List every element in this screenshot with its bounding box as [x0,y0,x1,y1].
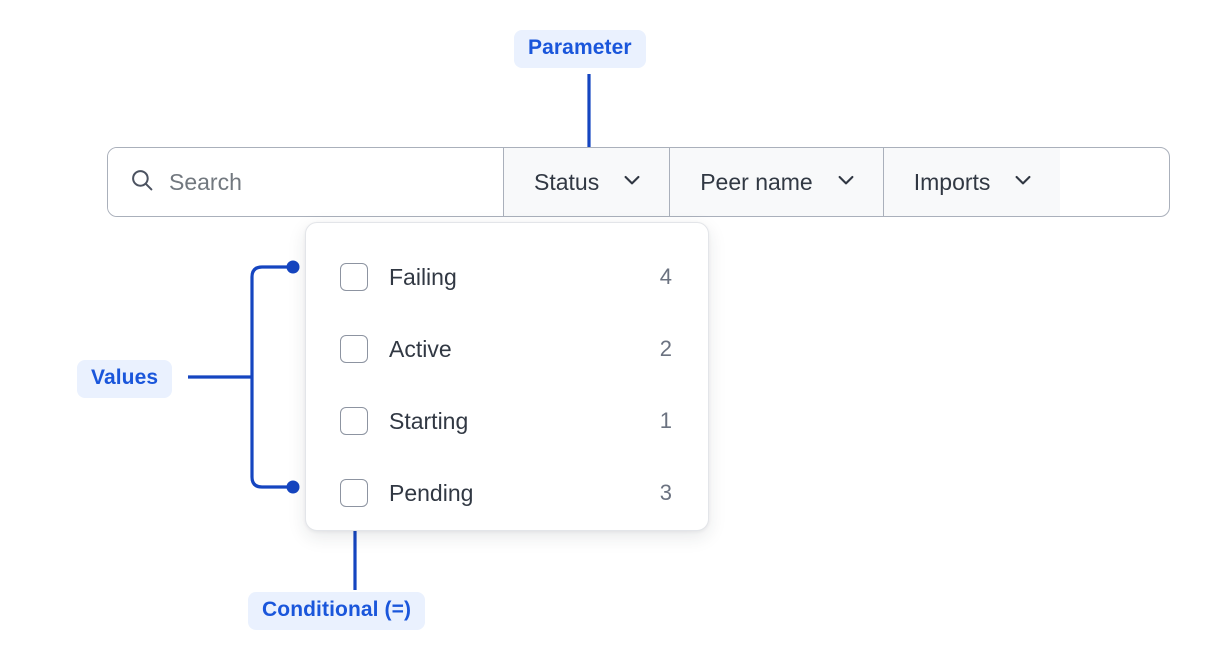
annotation-badge-values: Values [77,360,172,398]
values-connector-dot-bottom [287,481,300,494]
chevron-down-icon[interactable] [835,169,857,196]
option-label: Failing [389,264,660,291]
annotation-badge-conditional: Conditional (=) [248,592,425,630]
search-input[interactable] [169,169,469,196]
checkbox-icon[interactable] [340,335,368,363]
annotated-filter-diagram: Parameter Values Conditional (=) Status … [0,0,1224,660]
list-item[interactable]: Pending 3 [306,457,708,529]
option-count: 3 [660,480,672,506]
annotation-badge-parameter: Parameter [514,30,646,68]
filter-segment-label: Peer name [700,169,813,196]
checkbox-icon[interactable] [340,263,368,291]
checkbox-icon[interactable] [340,479,368,507]
option-count: 4 [660,264,672,290]
values-bracket [252,267,293,487]
filter-segment-label: Status [534,169,599,196]
search-segment[interactable] [108,148,504,216]
search-icon [129,167,155,198]
filter-segment-status[interactable]: Status [504,148,670,216]
list-item[interactable]: Failing 4 [306,241,708,313]
option-count: 2 [660,336,672,362]
chevron-down-icon[interactable] [1012,169,1034,196]
status-filter-dropdown: Failing 4 Active 2 Starting 1 Pending 3 [305,222,709,531]
option-label: Pending [389,480,660,507]
list-item[interactable]: Starting 1 [306,385,708,457]
values-connector-dot-top [287,261,300,274]
option-label: Active [389,336,660,363]
option-count: 1 [660,408,672,434]
chevron-down-icon[interactable] [621,169,643,196]
list-item[interactable]: Active 2 [306,313,708,385]
option-label: Starting [389,408,660,435]
filter-segment-peer-name[interactable]: Peer name [670,148,884,216]
filter-bar: Status Peer name Imports [107,147,1170,217]
filter-segment-imports[interactable]: Imports [884,148,1061,216]
filter-segment-label: Imports [914,169,991,196]
checkbox-icon[interactable] [340,407,368,435]
